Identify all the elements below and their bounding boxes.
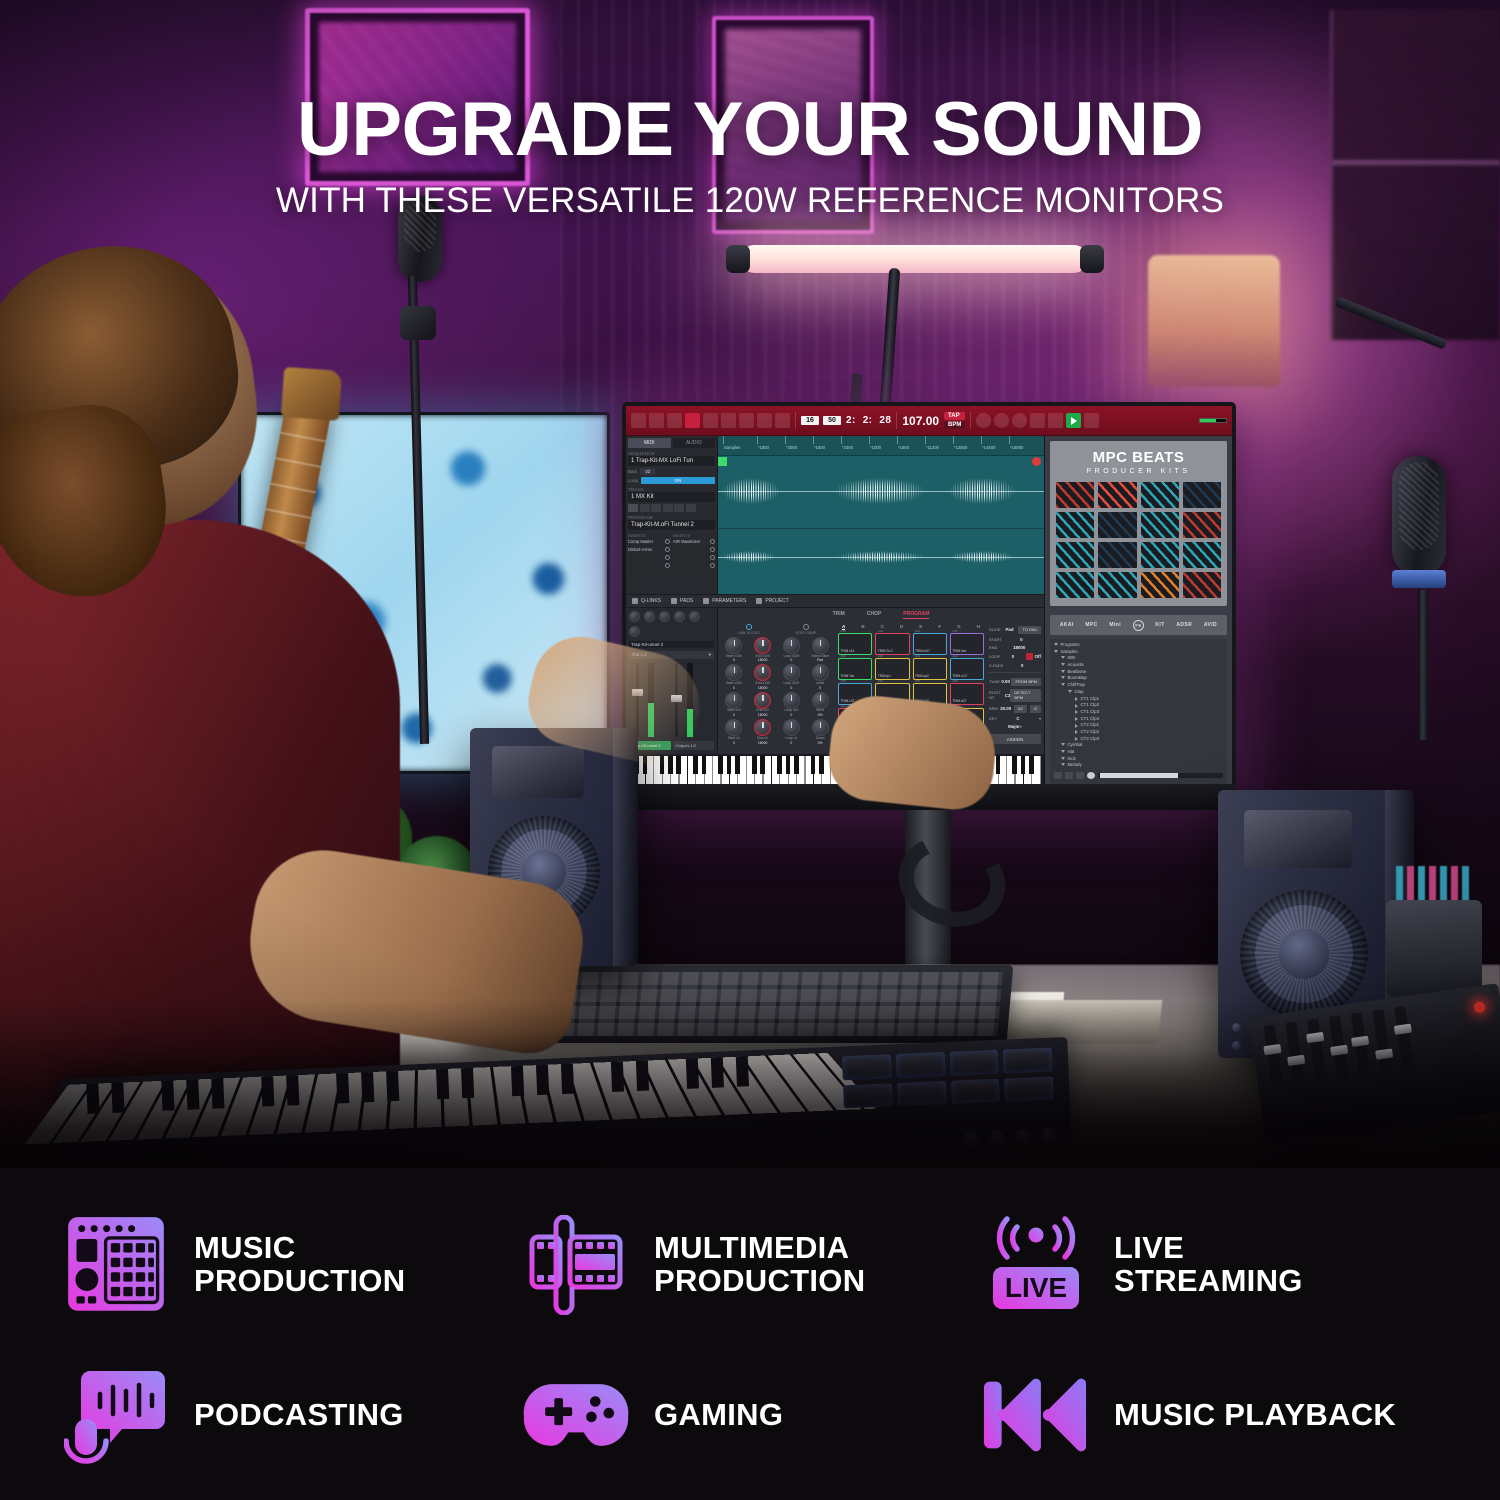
position-tick: 28 bbox=[879, 415, 891, 426]
pad-slot-label: A12 bbox=[952, 654, 957, 658]
browser-tree-label: Beatbone bbox=[1068, 669, 1087, 676]
subtab-program[interactable]: PROGRAM bbox=[903, 611, 929, 619]
daw-transport-bar: 16 50 2: 2: 28 107.00 TAP BPM bbox=[626, 406, 1232, 436]
splash-title: MPC BEATS bbox=[1056, 449, 1221, 466]
product-marketing-image: 16 50 2: 2: 28 107.00 TAP BPM bbox=[0, 0, 1500, 1500]
bars-value[interactable]: 32 bbox=[640, 468, 655, 475]
pad-bank-row: A B C D E F G H bbox=[838, 624, 984, 633]
ruler-label: Samples bbox=[724, 445, 740, 450]
browser-volume-slider[interactable] bbox=[1098, 773, 1223, 778]
chevron-down-icon[interactable] bbox=[1061, 656, 1065, 661]
browser-tree-item[interactable]: Samples bbox=[1054, 649, 1223, 656]
subtab-trim[interactable]: TRIM bbox=[833, 611, 845, 619]
chevron-down-icon[interactable] bbox=[1068, 690, 1072, 695]
home-icon[interactable] bbox=[631, 413, 646, 428]
audio-clip-lower[interactable] bbox=[718, 528, 1044, 586]
feature-grid: MUSIC PRODUCTION bbox=[0, 1168, 1500, 1500]
chevron-down-icon[interactable] bbox=[1061, 663, 1065, 668]
link-slices-toggle[interactable]: LINK SLICES bbox=[738, 624, 760, 635]
chevron-right-icon[interactable] bbox=[1075, 704, 1078, 708]
output-meter bbox=[1199, 418, 1227, 423]
brand-adsr: ADSR bbox=[1176, 622, 1192, 628]
drum-pad-A13[interactable]: A13TRIM x13 bbox=[838, 633, 872, 655]
loop-state: Off bbox=[1035, 654, 1041, 659]
scale-value[interactable]: Major bbox=[1008, 724, 1020, 729]
chevron-down-icon[interactable] bbox=[1061, 763, 1065, 768]
chevron-down-icon[interactable] bbox=[1061, 750, 1065, 755]
mic-shockmount-band bbox=[1392, 570, 1446, 588]
browser-tree-label: ChillTrap bbox=[1068, 682, 1085, 689]
chevron-right-icon[interactable] bbox=[1075, 717, 1078, 721]
slice-bpm[interactable]: 20.00 bbox=[1000, 706, 1011, 711]
producer-kit-tile[interactable] bbox=[1183, 542, 1221, 568]
slice-value[interactable]: Pad bbox=[1005, 627, 1013, 632]
pad-sample-label: TRIM x13 bbox=[841, 649, 855, 653]
producer-kit-tile[interactable] bbox=[1056, 572, 1094, 598]
tab-qlinks[interactable]: Q-LINKS bbox=[632, 598, 661, 604]
browser-tree-item[interactable]: CT2 Clp2 bbox=[1054, 729, 1223, 736]
podcast-mic-icon bbox=[60, 1363, 172, 1467]
knob-icon[interactable] bbox=[739, 413, 754, 428]
browser-tree-item[interactable]: Beatbone bbox=[1054, 669, 1223, 676]
knob-8[interactable]: Start x100 bbox=[720, 692, 748, 717]
feature-multimedia-production: MULTIMEDIA PRODUCTION bbox=[520, 1213, 980, 1317]
ruler-tick-5: *1600 bbox=[898, 445, 909, 450]
mpc-drum-pad-icon bbox=[60, 1213, 172, 1317]
ruler-tick-8: *14400 bbox=[982, 445, 995, 450]
brand-mpc: MPC bbox=[1085, 622, 1097, 628]
piano-black-key[interactable] bbox=[676, 756, 681, 774]
table-lamp bbox=[1148, 255, 1280, 387]
browser-tree-item[interactable]: Clap bbox=[1054, 689, 1223, 696]
splash-subtitle: PRODUCER KITS bbox=[1056, 468, 1221, 475]
brand-avid: AVID bbox=[1204, 622, 1217, 628]
piano-black-key[interactable] bbox=[693, 756, 698, 774]
mixer-knob-3[interactable] bbox=[659, 611, 670, 622]
tweeter-left bbox=[522, 758, 552, 786]
browser-tree-label: CT1 Clp1 bbox=[1081, 696, 1100, 703]
rewind-icon bbox=[980, 1363, 1092, 1467]
sample-ruler[interactable]: Samples *1800 *2000 *1600 *2400 *1000 *1… bbox=[718, 436, 1044, 456]
ruler-tick-1: *2000 bbox=[786, 445, 797, 450]
drum-pad-A08[interactable]: A08TRIM.a07 bbox=[950, 683, 984, 705]
mixer-program-name[interactable]: Trap-Kit-unnel 2 bbox=[629, 641, 714, 648]
live-badge-text: LIVE bbox=[1005, 1272, 1067, 1303]
record-button[interactable] bbox=[976, 413, 991, 428]
piano-black-key[interactable] bbox=[1021, 756, 1026, 774]
knob-6[interactable]: Loop x1000 bbox=[778, 664, 806, 689]
knob-11[interactable]: Send0% bbox=[806, 692, 834, 717]
ruler-tick-6: *11200 bbox=[926, 445, 939, 450]
mic-stand-right bbox=[1418, 590, 1428, 740]
producer-kit-grid[interactable] bbox=[1056, 482, 1221, 598]
producer-kit-tile[interactable] bbox=[1183, 572, 1221, 598]
browser-tree-label: 808 bbox=[1068, 655, 1075, 662]
next-button[interactable] bbox=[1084, 413, 1099, 428]
pad-sample-label: TRIM.Tk.2 bbox=[878, 649, 893, 653]
knob-10[interactable]: Loop x100 bbox=[778, 692, 806, 717]
drum-pad-A09[interactable]: A09TRIM.Tok bbox=[838, 658, 872, 680]
producer-kit-tile[interactable] bbox=[1098, 542, 1136, 568]
slice-knob-panel: LINK SLICES ZERO SNAP Start x1000 End x1… bbox=[718, 621, 836, 754]
chevron-right-icon[interactable] bbox=[1075, 724, 1078, 728]
piano-black-key[interactable] bbox=[1012, 756, 1017, 774]
browser-tree-item[interactable]: Hat bbox=[1054, 749, 1223, 756]
browser-audition-button[interactable] bbox=[1087, 772, 1095, 779]
pad-slot-label: A14 bbox=[878, 629, 883, 633]
knob-5[interactable]: End x10018000 bbox=[749, 664, 777, 689]
feature-music-production: MUSIC PRODUCTION bbox=[60, 1213, 520, 1317]
feature-label-gaming: GAMING bbox=[654, 1399, 783, 1432]
pad-bank-h[interactable]: H bbox=[977, 624, 980, 630]
tab-parameters[interactable]: PARAMETERS bbox=[703, 598, 746, 604]
producer-kit-tile[interactable] bbox=[1141, 482, 1179, 508]
browser-tree-item[interactable]: Cymbal bbox=[1054, 742, 1223, 749]
piano-black-key[interactable] bbox=[819, 756, 824, 774]
feature-label-multimedia: MULTIMEDIA PRODUCTION bbox=[654, 1232, 865, 1298]
piano-black-key[interactable] bbox=[735, 756, 740, 774]
chevron-down-icon[interactable] bbox=[1061, 670, 1065, 675]
time-sig-num[interactable]: 16 bbox=[801, 416, 819, 425]
pad-bank-b[interactable]: B bbox=[861, 624, 864, 630]
piano-black-key[interactable] bbox=[752, 756, 757, 774]
list-icon[interactable] bbox=[775, 413, 790, 428]
piano-black-key[interactable] bbox=[786, 756, 791, 774]
headline-block: UPGRADE YOUR SOUND WITH THESE VERSATILE … bbox=[0, 92, 1500, 218]
browser-tree-label: CT2 Clp2 bbox=[1081, 729, 1100, 736]
drum-pad-A11[interactable]: A11TRIM.sp2 bbox=[913, 658, 947, 680]
chevron-right-icon[interactable] bbox=[1075, 737, 1078, 741]
piano-black-key[interactable] bbox=[1029, 756, 1034, 774]
woofer-right bbox=[1240, 890, 1368, 1018]
knob-9[interactable]: End x1018000 bbox=[749, 692, 777, 717]
pad-sample-label: TRIM.a07 bbox=[952, 699, 966, 703]
position-bar: 2: bbox=[846, 415, 856, 426]
chevron-down-icon[interactable] bbox=[1061, 743, 1065, 748]
drum-pad-A15[interactable]: A15TRIM.a:07 bbox=[913, 633, 947, 655]
tweeter-right bbox=[1278, 824, 1312, 855]
game-controller-icon bbox=[520, 1363, 632, 1467]
browser-tree-label: Programs bbox=[1061, 642, 1080, 649]
piano-black-key[interactable] bbox=[760, 756, 765, 774]
loop-switch[interactable] bbox=[1026, 653, 1033, 660]
knob-7[interactable]: Level0 bbox=[806, 664, 834, 689]
slice-start[interactable]: 0 bbox=[1020, 637, 1022, 642]
brand-kit: KIT bbox=[1155, 622, 1164, 628]
led-bar-lamp bbox=[740, 245, 1088, 273]
led-bar-cap-right bbox=[1080, 245, 1104, 273]
feature-music-playback: MUSIC PLAYBACK bbox=[980, 1363, 1440, 1467]
page-subtitle: WITH THESE VERSATILE 120W REFERENCE MONI… bbox=[0, 183, 1500, 218]
knob-13[interactable]: End x118000 bbox=[749, 719, 777, 744]
pad-sample-label: TRIM.d.07 bbox=[952, 674, 967, 678]
loop-label: Loop bbox=[628, 478, 638, 483]
detect-bpm-button[interactable]: DETECT BPM bbox=[1010, 689, 1041, 702]
audio-clip-upper[interactable] bbox=[718, 456, 1044, 526]
browser-filter-button[interactable] bbox=[1076, 772, 1084, 779]
knob-1[interactable]: End x10018000 bbox=[749, 637, 777, 662]
drum-pad-A12[interactable]: A12TRIM.d.07 bbox=[950, 658, 984, 680]
browser-icon[interactable] bbox=[649, 413, 664, 428]
chevron-down-icon[interactable] bbox=[1061, 676, 1065, 681]
bottom-fade bbox=[0, 1000, 1500, 1175]
tab-project[interactable]: PROJECT bbox=[756, 598, 788, 604]
browser-tree-label: Acoustic bbox=[1068, 662, 1085, 669]
browser-tree-label: CT1 Clp3 bbox=[1081, 709, 1100, 716]
sequence-section: SEQUENCE 1 Trap-Kit-MX LoFi Tun Bars 32 … bbox=[628, 451, 715, 484]
feature-row-1: MUSIC PRODUCTION bbox=[60, 1190, 1440, 1340]
producer-kit-tile[interactable] bbox=[1183, 482, 1221, 508]
pad-slot-label: A13 bbox=[841, 629, 846, 633]
pad-slot-label: A08 bbox=[952, 679, 957, 683]
slice-loop[interactable]: 0 bbox=[1012, 654, 1014, 659]
ruler-tick-0: *1800 bbox=[758, 445, 769, 450]
pad-sample-label: TRIM.Tok bbox=[841, 674, 855, 678]
chevron-down-icon[interactable] bbox=[1061, 757, 1065, 762]
time-sig-den[interactable]: 50 bbox=[823, 416, 841, 425]
slice-xfade[interactable]: 0 bbox=[1021, 663, 1023, 668]
zero-snap-toggle[interactable]: ZERO SNAP bbox=[795, 624, 816, 635]
browser-tree-item[interactable]: CT1 Clp1 bbox=[1054, 696, 1223, 703]
insert-b-1[interactable]: AIR Maximizer bbox=[673, 539, 700, 544]
piano-black-key[interactable] bbox=[794, 756, 799, 774]
knob-12[interactable]: Start x10 bbox=[720, 719, 748, 744]
condenser-microphone-right bbox=[1392, 456, 1446, 576]
piano-black-key[interactable] bbox=[727, 756, 732, 774]
metronome-button[interactable] bbox=[1012, 413, 1027, 428]
piano-black-key[interactable] bbox=[811, 756, 816, 774]
partner-brand-bar: AKAI MPC Mini F9 KIT ADSR AVID bbox=[1050, 615, 1227, 635]
piano-black-key[interactable] bbox=[777, 756, 782, 774]
bpm-half[interactable]: /2 bbox=[1030, 705, 1041, 713]
sample-browser[interactable]: ProgramsSamples808AcousticBeatboneBoomBa… bbox=[1050, 639, 1227, 784]
sequence-name[interactable]: 1 Trap-Kit-MX LoFi Tun bbox=[628, 456, 715, 466]
browser-tree-label: Clap bbox=[1075, 689, 1084, 696]
producer-kit-tile[interactable] bbox=[1098, 482, 1136, 508]
piano-black-key[interactable] bbox=[996, 756, 1001, 774]
knob-4[interactable]: Start x1000 bbox=[720, 664, 748, 689]
stop-button[interactable] bbox=[1048, 413, 1063, 428]
led-bar-cap-left bbox=[726, 245, 750, 273]
producer-kit-tile[interactable] bbox=[1141, 542, 1179, 568]
pad-slot-label: A09 bbox=[841, 654, 846, 658]
browser-tree-item[interactable]: CT1 Clp3 bbox=[1054, 709, 1223, 716]
pad-bank-f[interactable]: F bbox=[938, 624, 941, 630]
browser-tree-item[interactable]: Acoustic bbox=[1054, 662, 1223, 669]
key-value[interactable]: C bbox=[1016, 716, 1019, 721]
browser-tree-item[interactable]: 808 bbox=[1054, 655, 1223, 662]
page-title: UPGRADE YOUR SOUND bbox=[0, 92, 1500, 168]
play-button[interactable] bbox=[1066, 413, 1081, 428]
mixer-knob-4[interactable] bbox=[674, 611, 685, 622]
position-beat: 2: bbox=[863, 415, 873, 426]
ruler-tick-9: *16000 bbox=[1010, 445, 1023, 450]
tab-midi[interactable]: MIDI bbox=[628, 438, 671, 448]
pad-sample-label: TRIM.sp2 bbox=[915, 674, 929, 678]
producer-kit-tile[interactable] bbox=[1141, 512, 1179, 538]
knob-3[interactable]: Select SlicePad bbox=[806, 637, 834, 662]
ruler-tick-2: *1600 bbox=[814, 445, 825, 450]
browser-tree-label: Melody bbox=[1068, 762, 1082, 769]
mixer-icon[interactable] bbox=[703, 413, 718, 428]
ruler-tick-7: *12800 bbox=[954, 445, 967, 450]
producer-kit-tile[interactable] bbox=[1056, 482, 1094, 508]
browser-footer bbox=[1054, 772, 1223, 779]
slice-parameters-panel: SLICE Pad TO PAD START 0 END 18000 LOOP bbox=[986, 621, 1044, 754]
drum-pad-A16[interactable]: A16TRIM.mm bbox=[950, 633, 984, 655]
feature-live-streaming: LIVE LIVE STREAMING bbox=[980, 1213, 1440, 1317]
knob-0[interactable]: Start x1000 bbox=[720, 637, 748, 662]
browser-tree-item[interactable]: Melody bbox=[1054, 762, 1223, 769]
to-pad-button[interactable]: TO PAD bbox=[1018, 626, 1041, 634]
feature-label-music-production: MUSIC PRODUCTION bbox=[194, 1232, 405, 1298]
program-name[interactable]: Trap-Kit-M.oFi Tunnel 2 bbox=[628, 520, 715, 530]
mixer-knob-5[interactable] bbox=[689, 611, 700, 622]
chevron-right-icon[interactable] bbox=[1075, 697, 1078, 701]
tune-value[interactable]: 0.00 bbox=[1001, 679, 1010, 684]
slice-end[interactable]: 18000 bbox=[1013, 645, 1025, 650]
browser-view-button[interactable] bbox=[1065, 772, 1073, 779]
browser-tree-label: Samples bbox=[1061, 649, 1078, 656]
bpm-label: BPM bbox=[944, 421, 965, 429]
piano-black-key[interactable] bbox=[718, 756, 723, 774]
sampler-icon[interactable] bbox=[685, 413, 700, 428]
browser-tree-item[interactable]: Programs bbox=[1054, 642, 1223, 649]
chevron-down-icon[interactable] bbox=[1054, 650, 1058, 655]
pad-slot-label: A11 bbox=[915, 654, 920, 658]
track-name[interactable]: 1 MX Kit bbox=[628, 492, 715, 502]
feature-row-2: PODCASTING GAMING bbox=[60, 1340, 1440, 1490]
browser-tree-item[interactable]: ChillTrap bbox=[1054, 682, 1223, 689]
ruler-tick-3: *2400 bbox=[842, 445, 853, 450]
pad-slot-label: A10 bbox=[878, 654, 883, 658]
pad-slot-label: A16 bbox=[952, 629, 957, 633]
feature-label-live-streaming: LIVE STREAMING bbox=[1114, 1232, 1303, 1298]
browser-tree-label: BoomBap bbox=[1068, 675, 1087, 682]
knob-2[interactable]: Loop x1000 bbox=[778, 637, 806, 662]
pad-slot-label: A06 bbox=[878, 679, 883, 683]
editor-tab-strip: Q-LINKS PADS PARAMETERS PROJECT bbox=[626, 594, 1044, 608]
insert-a-2[interactable]: Distort-o-tron bbox=[628, 547, 652, 552]
brand-mini: Mini bbox=[1109, 622, 1121, 628]
pad-slot-label: A05 bbox=[841, 679, 846, 683]
producer-kit-tile[interactable] bbox=[1141, 572, 1179, 598]
chevron-right-icon[interactable] bbox=[1075, 730, 1078, 734]
piano-black-key[interactable] bbox=[702, 756, 707, 774]
feature-gaming: GAMING bbox=[520, 1363, 980, 1467]
knob-14[interactable]: Loop x10 bbox=[778, 719, 806, 744]
browser-info-button[interactable] bbox=[1054, 772, 1062, 779]
film-strip-icon bbox=[520, 1213, 632, 1317]
assign-button[interactable]: ASSIGN bbox=[989, 734, 1041, 744]
mixer-knob-2[interactable] bbox=[644, 611, 655, 622]
browser-tree-label: Hat bbox=[1068, 749, 1075, 756]
browser-tree-item[interactable]: CT2 Clp3 bbox=[1054, 736, 1223, 743]
pad-sample-label: TRIM.mm bbox=[952, 649, 966, 653]
producer-kit-tile[interactable] bbox=[1098, 512, 1136, 538]
browser-tree-item[interactable]: CT1 Clp2 bbox=[1054, 702, 1223, 709]
feature-podcasting: PODCASTING bbox=[60, 1363, 520, 1467]
inserts-grid: INSERTS Comp Master Distort-o-tron INSER… bbox=[628, 533, 715, 570]
browser-tree-label: Cymbal bbox=[1068, 742, 1083, 749]
sliders-icon[interactable] bbox=[721, 413, 736, 428]
mixer-knob-6[interactable] bbox=[629, 626, 640, 637]
chevron-down-icon[interactable] bbox=[1054, 643, 1058, 648]
mpc-beats-splash: MPC BEATS PRODUCER KITS bbox=[1050, 441, 1227, 606]
track-header-column: MIDI AUDIO SEQUENCE 1 Trap-Kit-MX LoFi T… bbox=[626, 436, 718, 594]
overdub-button[interactable] bbox=[994, 413, 1009, 428]
brand-akai: AKAI bbox=[1060, 622, 1074, 628]
pad-slot-label: A15 bbox=[915, 629, 920, 633]
producer-kit-tile[interactable] bbox=[1183, 512, 1221, 538]
producer-kit-tile[interactable] bbox=[1056, 542, 1094, 568]
loop-toggle[interactable]: ON bbox=[641, 477, 715, 484]
track-pad-row bbox=[628, 504, 715, 512]
pad-sample-label: TRIM.a:07 bbox=[915, 649, 930, 653]
pen-cup bbox=[1386, 900, 1482, 996]
drum-pad-A10[interactable]: A10TRIM.tp1 bbox=[875, 658, 909, 680]
program-section: PROGRAM Trap-Kit-M.oFi Tunnel 2 bbox=[628, 515, 715, 530]
bars-label: Bars bbox=[628, 469, 637, 474]
feature-label-podcasting: PODCASTING bbox=[194, 1399, 404, 1432]
knob-grid: Start x1000 End x10018000 Loop x1000 Sel… bbox=[720, 637, 834, 745]
bpm-double[interactable]: X2 bbox=[1014, 705, 1027, 713]
browser-tree-label: Kick bbox=[1068, 756, 1076, 763]
subtab-chop[interactable]: CHOP bbox=[867, 611, 881, 619]
grid-icon[interactable] bbox=[667, 413, 682, 428]
tab-pads[interactable]: PADS bbox=[671, 598, 693, 604]
pad-bank-d[interactable]: D bbox=[900, 624, 903, 630]
pad-sample-label: TRIM.tp1 bbox=[878, 674, 891, 678]
live-broadcast-icon: LIVE bbox=[980, 1213, 1092, 1317]
tap-tempo-button[interactable]: TAP bbox=[944, 412, 965, 420]
browser-panel: MPC BEATS PRODUCER KITS AKAI MPC Mini F9… bbox=[1044, 436, 1232, 788]
browser-tree-item[interactable]: CT2 Clp1 bbox=[1054, 722, 1223, 729]
chevron-down-icon[interactable] bbox=[1061, 683, 1065, 688]
insert-a-1[interactable]: Comp Master bbox=[628, 539, 653, 544]
browser-tree-item[interactable]: CT1 Clp4 bbox=[1054, 716, 1223, 723]
browser-tree-label: CT1 Clp4 bbox=[1081, 716, 1100, 723]
drum-pad-A14[interactable]: A14TRIM.Tk.2 bbox=[875, 633, 909, 655]
producer-kit-tile[interactable] bbox=[1098, 572, 1136, 598]
browser-tree-label: CT2 Clp3 bbox=[1081, 736, 1100, 743]
mixer-knob-1[interactable] bbox=[629, 611, 640, 622]
track-section: TRACK 1 MX Kit bbox=[628, 487, 715, 512]
feature-label-music-playback: MUSIC PLAYBACK bbox=[1114, 1399, 1396, 1432]
pad-slot-label: A07 bbox=[915, 679, 920, 683]
tempo-value[interactable]: 107.00 bbox=[902, 414, 939, 428]
chevron-right-icon[interactable] bbox=[1075, 710, 1078, 714]
browser-tree-label: CT2 Clp1 bbox=[1081, 722, 1100, 729]
browser-tree-label: CT1 Clp2 bbox=[1081, 702, 1100, 709]
browser-tree-item[interactable]: BoomBap bbox=[1054, 675, 1223, 682]
music-producer-person bbox=[0, 265, 520, 1085]
waveform-arranger[interactable]: Samples *1800 *2000 *1600 *2400 *1000 *1… bbox=[718, 436, 1044, 594]
browser-tree-item[interactable]: Kick bbox=[1054, 756, 1223, 763]
tab-audio[interactable]: AUDIO bbox=[673, 438, 716, 448]
brand-f9: F9 bbox=[1133, 620, 1144, 631]
browser-tree[interactable]: ProgramsSamples808AcousticBeatboneBoomBa… bbox=[1054, 642, 1223, 769]
save-icon[interactable] bbox=[1030, 413, 1045, 428]
ruler-tick-4: *1000 bbox=[870, 445, 881, 450]
from-bpm-button[interactable]: FROM BPM bbox=[1011, 678, 1041, 686]
producer-kit-tile[interactable] bbox=[1056, 512, 1094, 538]
loop-icon[interactable] bbox=[757, 413, 772, 428]
